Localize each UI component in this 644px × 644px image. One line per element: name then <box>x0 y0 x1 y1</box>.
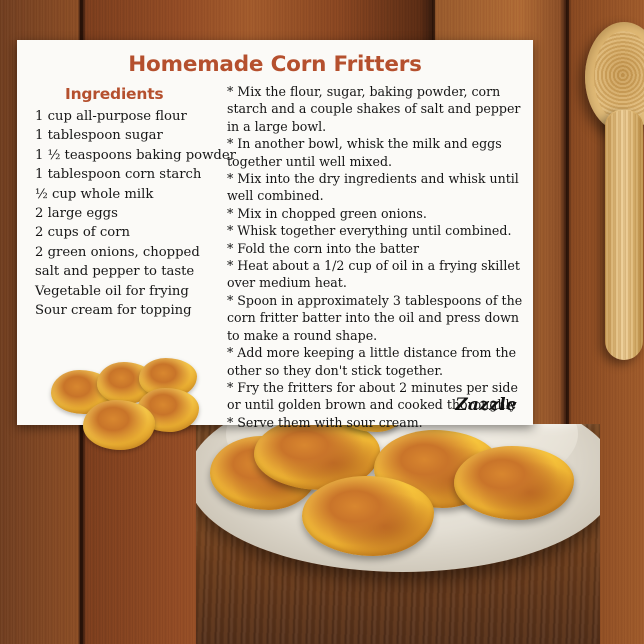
ingredients-heading: Ingredients <box>65 85 219 103</box>
list-item: Sour cream for topping <box>35 301 219 320</box>
fritter-icon <box>302 476 434 556</box>
wooden-spoon-icon <box>585 22 644 422</box>
instruction-step: * Mix in chopped green onions. <box>227 205 523 222</box>
list-item: 1 tablespoon corn starch <box>35 165 219 184</box>
list-item: Vegetable oil for frying <box>35 282 219 301</box>
list-item: 1 ½ teaspoons baking powder <box>35 146 219 165</box>
fritter-icon <box>454 446 574 520</box>
instructions-column: * Mix the flour, sugar, baking powder, c… <box>219 83 523 431</box>
instruction-step: * Mix into the dry ingredients and whisk… <box>227 170 523 205</box>
fritter-plate-photo <box>196 424 600 644</box>
page-title: Homemade Corn Fritters <box>17 52 533 77</box>
list-item: salt and pepper to taste <box>35 262 219 281</box>
list-item: 1 cup all-purpose flour <box>35 107 219 126</box>
instruction-step: * Spoon in approximately 3 tablespoons o… <box>227 292 523 344</box>
list-item: ½ cup whole milk <box>35 185 219 204</box>
spoon-handle <box>605 110 643 360</box>
instruction-step: * Add more keeping a little distance fro… <box>227 344 523 379</box>
corn-fritters-illustration <box>45 358 205 452</box>
instruction-step: * Whisk together everything until combin… <box>227 222 523 239</box>
instruction-step: * In another bowl, whisk the milk and eg… <box>227 135 523 170</box>
list-item: 2 cups of corn <box>35 223 219 242</box>
zazzle-watermark: Zazzle <box>455 395 517 415</box>
instruction-step: * Mix the flour, sugar, baking powder, c… <box>227 83 523 135</box>
list-item: 2 green onions, chopped <box>35 243 219 262</box>
instruction-step: * Serve them with sour cream. <box>227 414 523 431</box>
ingredients-list: 1 cup all-purpose flour 1 tablespoon sug… <box>35 107 219 320</box>
instruction-step: * Fold the corn into the batter <box>227 240 523 257</box>
recipe-card: Homemade Corn Fritters Ingredients 1 cup… <box>17 40 533 425</box>
fritter-icon <box>83 400 155 450</box>
list-item: 2 large eggs <box>35 204 219 223</box>
instruction-step: * Heat about a 1/2 cup of oil in a fryin… <box>227 257 523 292</box>
recipe-card-scene: Homemade Corn Fritters Ingredients 1 cup… <box>0 0 644 644</box>
list-item: 1 tablespoon sugar <box>35 126 219 145</box>
